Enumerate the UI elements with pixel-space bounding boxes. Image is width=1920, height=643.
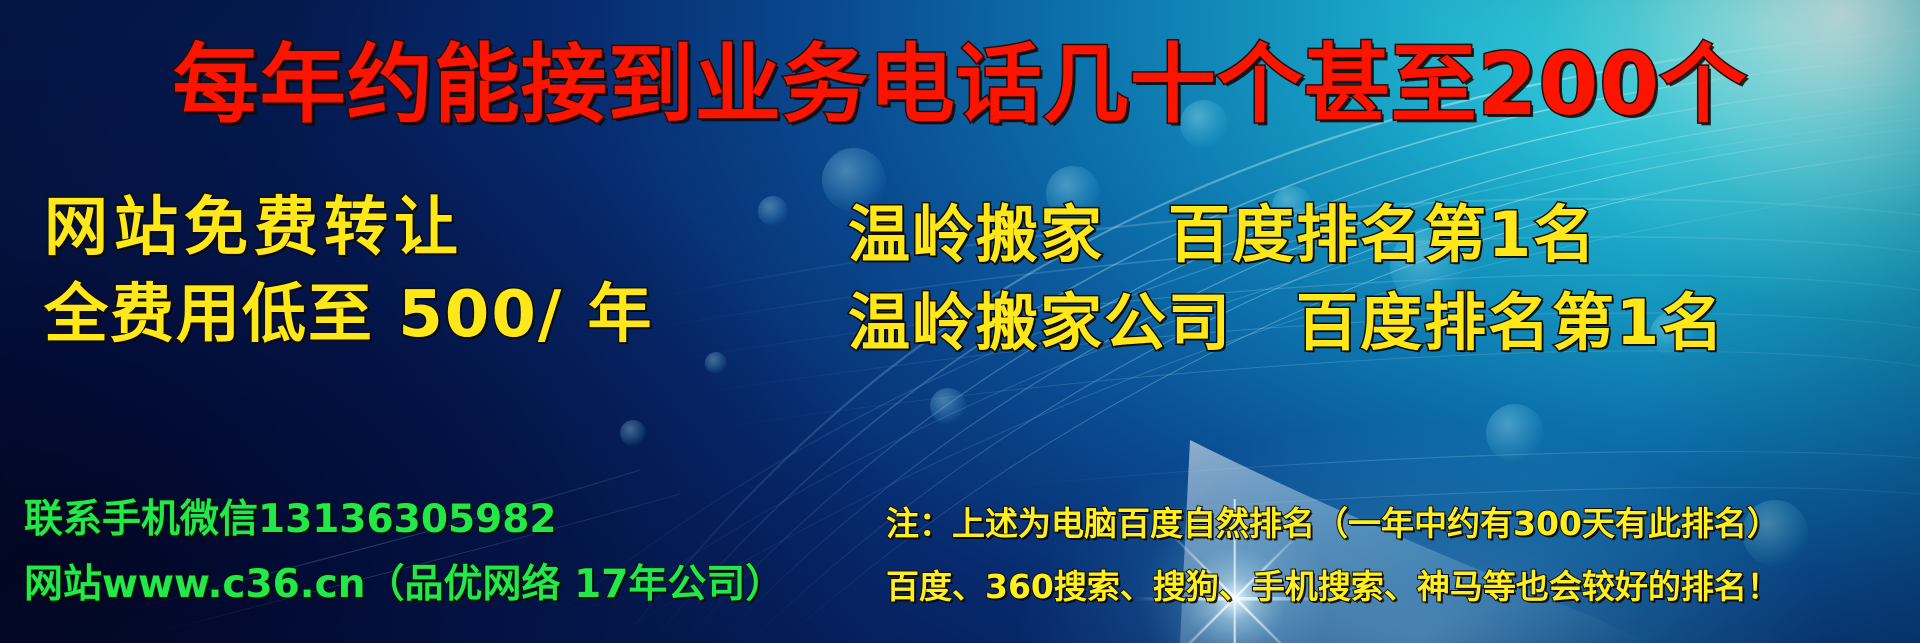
offer-line-price: 全费用低至 500/ 年 — [44, 263, 654, 355]
offer-line-transfer: 网站免费转让 — [44, 176, 464, 268]
contact-website-text: 网站www.c36.cn（品优网络 17年公司） — [24, 553, 784, 609]
note-text-primary: 注：上述为电脑百度自然排名（一年中约有300天有此排名） — [886, 497, 1780, 545]
banner-text-layer: 每年约能接到业务电话几十个甚至200个 网站免费转让 全费用低至 500/ 年 … — [0, 0, 1920, 643]
note-text-secondary: 百度、360搜索、搜狗、手机搜索、神马等也会较好的排名！ — [886, 560, 1780, 608]
contact-phone-text: 联系手机微信13136305982 — [24, 488, 557, 544]
headline-text: 每年约能接到业务电话几十个甚至200个 — [0, 14, 1920, 139]
promo-banner: 每年约能接到业务电话几十个甚至200个 网站免费转让 全费用低至 500/ 年 … — [0, 0, 1920, 643]
ranking-line-moving-company: 温岭搬家公司 百度排名第1名 — [848, 272, 1725, 362]
ranking-line-moving: 温岭搬家 百度排名第1名 — [848, 184, 1597, 274]
